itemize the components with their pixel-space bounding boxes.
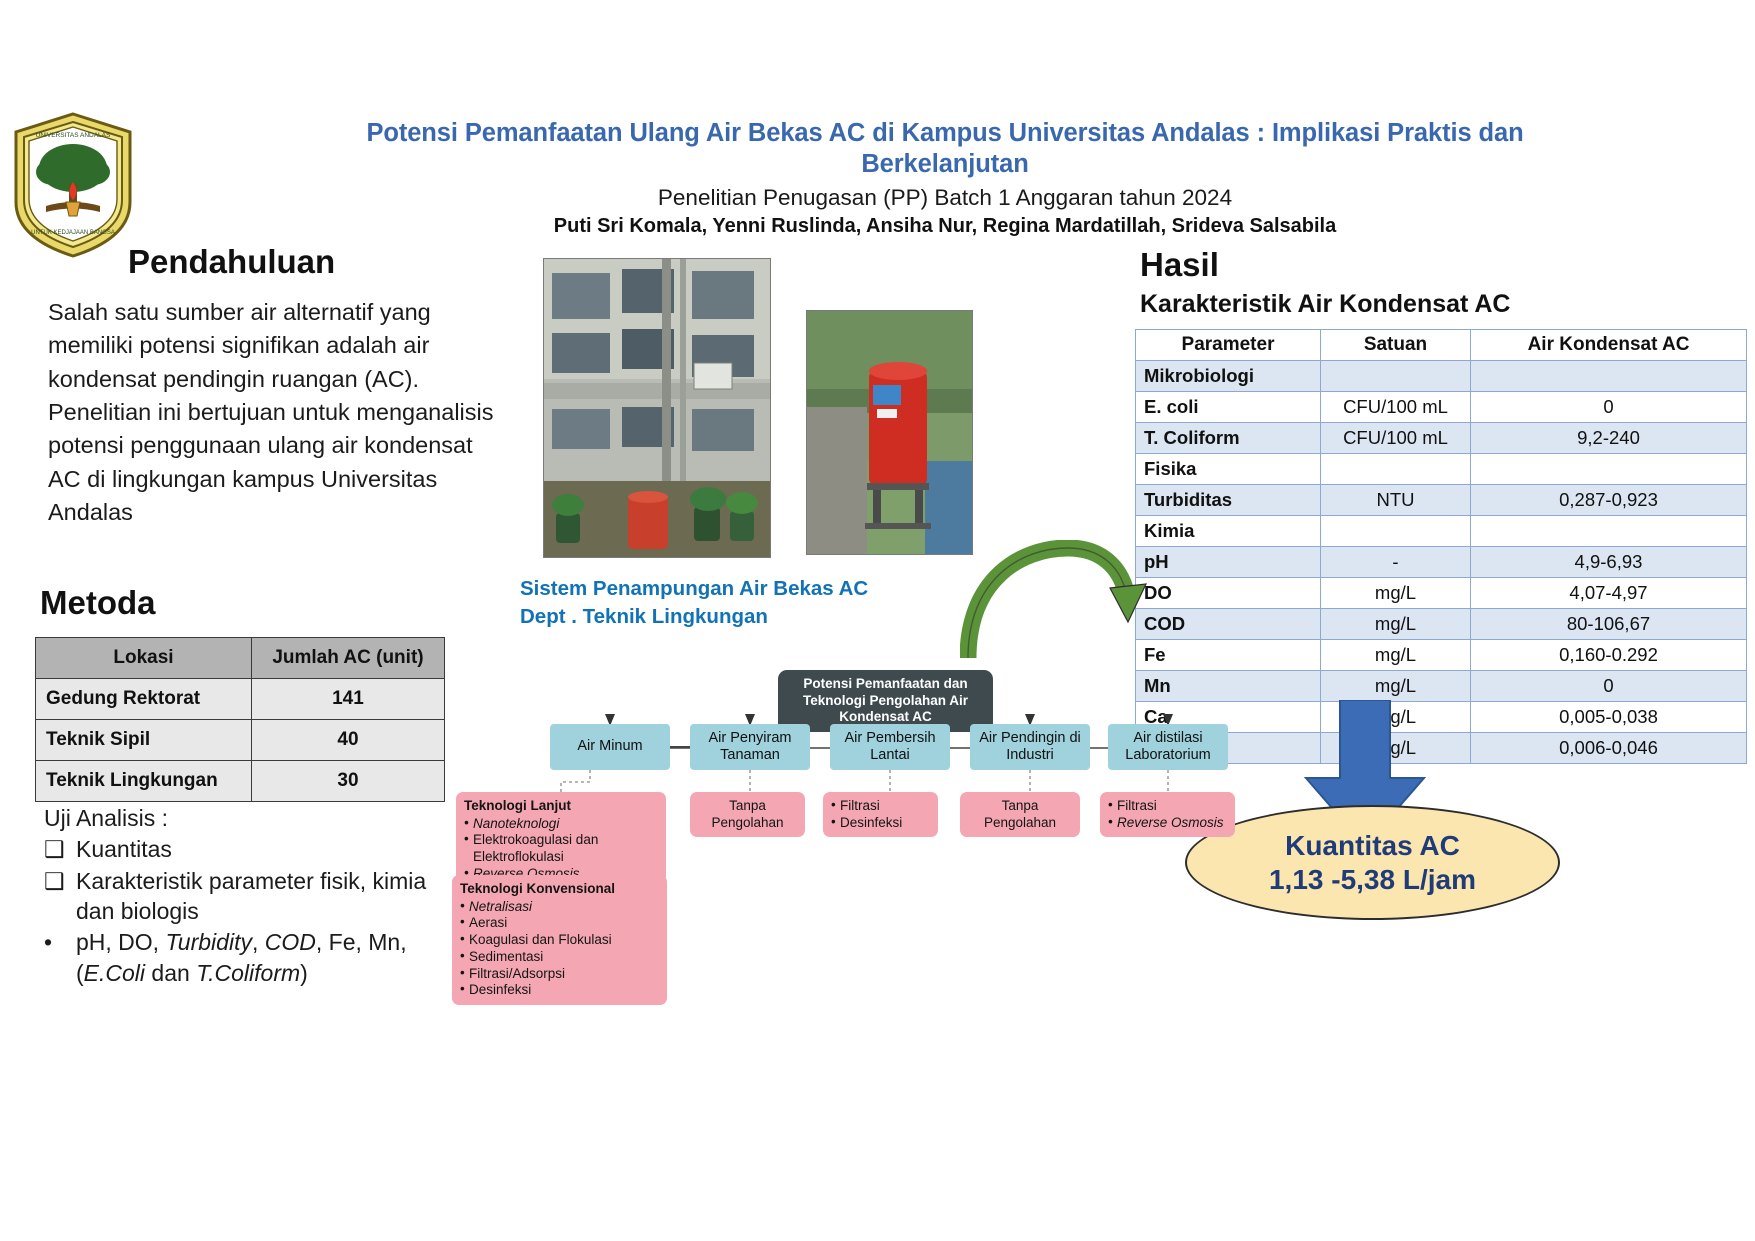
table-row: Mikrobiologi — [1136, 361, 1747, 392]
table-row: DOmg/L4,07-4,97 — [1136, 578, 1747, 609]
uji-parameter-list: pH, DO, Turbidity, COD, Fe, Mn, (E.Coli … — [76, 927, 464, 988]
list-item: Filtrasi — [831, 798, 930, 815]
list-item: Sedimentasi — [460, 949, 659, 966]
cell-satuan: NTU — [1321, 485, 1471, 516]
cell-satuan: mg/L — [1321, 671, 1471, 702]
uji-analisis-block: Uji Analisis : ❑ Kuantitas ❑ Karakterist… — [44, 803, 464, 989]
teknologi-konvensional-title: Teknologi Konvensional — [460, 881, 659, 898]
cell-jumlah: 141 — [251, 679, 444, 720]
col-jumlah-ac: Jumlah AC (unit) — [251, 638, 444, 679]
flow-node-filtrasi-desinfeksi: Filtrasi Desinfeksi — [823, 792, 938, 837]
cell-nilai: 0,006-0,046 — [1471, 733, 1747, 764]
flow-node-air-minum: Air Minum — [550, 724, 670, 770]
col-air-kondensat: Air Kondensat AC — [1471, 330, 1747, 361]
list-item: ❑ Karakteristik parameter fisik, kimia d… — [44, 866, 464, 927]
cell-jumlah: 40 — [251, 720, 444, 761]
flow-node-teknologi-konvensional: Teknologi Konvensional Netralisasi Aeras… — [452, 875, 667, 1005]
cell-parameter: pH — [1136, 547, 1321, 578]
cell-satuan: - — [1321, 547, 1471, 578]
cell-parameter: Turbiditas — [1136, 485, 1321, 516]
list-item: Filtrasi/Adsorpsi — [460, 966, 659, 983]
cell-parameter: Fisika — [1136, 454, 1321, 485]
cell-satuan: mg/L — [1321, 578, 1471, 609]
table-row: Kimia — [1136, 516, 1747, 547]
col-lokasi: Lokasi — [36, 638, 252, 679]
cell-parameter: Fe — [1136, 640, 1321, 671]
cell-nilai: 0,005-0,038 — [1471, 702, 1747, 733]
cell-satuan: mg/L — [1321, 609, 1471, 640]
checkbox-icon: ❑ — [44, 866, 66, 927]
cell-lokasi: Teknik Lingkungan — [36, 761, 252, 802]
poster-authors: Puti Sri Komala, Yenni Ruslinda, Ansiha … — [300, 215, 1590, 238]
table-row: TurbiditasNTU0,287-0,923 — [1136, 485, 1747, 516]
cell-nilai: 0 — [1471, 671, 1747, 702]
cell-nilai: 4,07-4,97 — [1471, 578, 1747, 609]
table-row: T. ColiformCFU/100 mL9,2-240 — [1136, 423, 1747, 454]
heading-metoda: Metoda — [40, 584, 156, 622]
cell-jumlah: 30 — [251, 761, 444, 802]
cell-satuan: CFU/100 mL — [1321, 392, 1471, 423]
cell-nilai: 0 — [1471, 392, 1747, 423]
list-item: • pH, DO, Turbidity, COD, Fe, Mn, (E.Col… — [44, 927, 464, 988]
cell-parameter: DO — [1136, 578, 1321, 609]
flowchart: Potensi Pemanfaatan dan Teknologi Pengol… — [440, 670, 1240, 1130]
cell-satuan — [1321, 361, 1471, 392]
cell-satuan — [1321, 454, 1471, 485]
teknologi-lanjut-title: Teknologi Lanjut — [464, 798, 658, 815]
table-header-row: Lokasi Jumlah AC (unit) — [36, 638, 445, 679]
flowchart-root-node: Potensi Pemanfaatan dan Teknologi Pengol… — [778, 670, 993, 732]
checkbox-icon: ❑ — [44, 834, 66, 864]
cell-lokasi: Teknik Sipil — [36, 720, 252, 761]
cell-nilai — [1471, 516, 1747, 547]
flow-node-air-penyiram-tanaman: Air Penyiram Tanaman — [690, 724, 810, 770]
table-header-row: Parameter Satuan Air Kondensat AC — [1136, 330, 1747, 361]
cell-nilai — [1471, 361, 1747, 392]
cell-parameter: Mikrobiologi — [1136, 361, 1321, 392]
col-satuan: Satuan — [1321, 330, 1471, 361]
flow-node-tanpa-pengolahan-1: Tanpa Pengolahan — [690, 792, 805, 837]
cell-nilai: 9,2-240 — [1471, 423, 1747, 454]
table-row: Fisika — [1136, 454, 1747, 485]
list-item: Elektrokoagulasi dan — [464, 832, 658, 849]
list-item: Netralisasi — [460, 899, 659, 916]
svg-text:UNTUK KEDJAJAAN BANGSA: UNTUK KEDJAJAAN BANGSA — [31, 230, 115, 236]
cell-satuan: mg/L — [1321, 640, 1471, 671]
list-item: ❑ Kuantitas — [44, 834, 464, 864]
kuantitas-ac-callout: Kuantitas AC 1,13 -5,38 L/jam — [1185, 805, 1560, 920]
cell-nilai: 80-106,67 — [1471, 609, 1747, 640]
green-curved-arrow — [960, 540, 1160, 660]
cell-nilai — [1471, 454, 1747, 485]
flow-node-air-distilasi-laboratorium: Air distilasi Laboratorium — [1108, 724, 1228, 770]
table-row: Femg/L0,160-0.292 — [1136, 640, 1747, 671]
table-row: CODmg/L80-106,67 — [1136, 609, 1747, 640]
heading-pendahuluan: Pendahuluan — [128, 243, 335, 281]
pendahuluan-body: Salah satu sumber air alternatif yang me… — [48, 296, 508, 530]
uji-item-label: Kuantitas — [76, 834, 464, 864]
poster-subtitle: Penelitian Penugasan (PP) Batch 1 Anggar… — [300, 185, 1590, 211]
cell-satuan: CFU/100 mL — [1321, 423, 1471, 454]
list-item: Nanoteknologi — [464, 816, 658, 833]
table-row: Teknik Sipil 40 — [36, 720, 445, 761]
cell-nilai: 0,287-0,923 — [1471, 485, 1747, 516]
table-row: pH-4,9-6,93 — [1136, 547, 1747, 578]
list-item: Aerasi — [460, 915, 659, 932]
heading-hasil: Hasil — [1140, 246, 1219, 284]
poster-header: Potensi Pemanfaatan Ulang Air Bekas AC d… — [300, 118, 1590, 238]
list-item: Elektroflokulasi — [464, 849, 658, 866]
photo-caption: Sistem Penampungan Air Bekas AC Dept . T… — [520, 575, 890, 630]
list-item: Desinfeksi — [460, 982, 659, 999]
list-item: Reverse Osmosis — [1108, 815, 1227, 832]
svg-text:UNIVERSITAS ANDALAS: UNIVERSITAS ANDALAS — [36, 132, 111, 139]
list-item: Desinfeksi — [831, 815, 930, 832]
table-row: E. coliCFU/100 mL0 — [1136, 392, 1747, 423]
uji-analisis-title: Uji Analisis : — [44, 803, 464, 833]
flow-node-air-pembersih-lantai: Air Pembersih Lantai — [830, 724, 950, 770]
cell-parameter: T. Coliform — [1136, 423, 1321, 454]
cell-lokasi: Gedung Rektorat — [36, 679, 252, 720]
photo-building-ac-pipes — [543, 258, 771, 558]
universitas-andalas-logo: UNIVERSITAS ANDALAS UNTUK KEDJAJAAN BANG… — [8, 110, 138, 260]
kuantitas-label: Kuantitas AC — [1285, 829, 1460, 862]
table-row: Gedung Rektorat 141 — [36, 679, 445, 720]
flow-node-air-pendingin-industri: Air Pendingin di Industri — [970, 724, 1090, 770]
flow-node-tanpa-pengolahan-2: Tanpa Pengolahan — [960, 792, 1080, 837]
flow-node-filtrasi-reverse-osmosis: Filtrasi Reverse Osmosis — [1100, 792, 1235, 837]
cell-parameter: Kimia — [1136, 516, 1321, 547]
cell-parameter: E. coli — [1136, 392, 1321, 423]
col-parameter: Parameter — [1136, 330, 1321, 361]
heading-karakteristik: Karakteristik Air Kondensat AC — [1140, 290, 1510, 319]
cell-satuan — [1321, 516, 1471, 547]
table-row: Teknik Lingkungan 30 — [36, 761, 445, 802]
list-item: Koagulasi dan Flokulasi — [460, 932, 659, 949]
bullet-icon: • — [44, 927, 66, 988]
uji-item-label: Karakteristik parameter fisik, kimia dan… — [76, 866, 464, 927]
cell-nilai: 4,9-6,93 — [1471, 547, 1747, 578]
kuantitas-value: 1,13 -5,38 L/jam — [1269, 863, 1476, 896]
list-item: Filtrasi — [1108, 798, 1227, 815]
metoda-table: Lokasi Jumlah AC (unit) Gedung Rektorat … — [35, 637, 445, 802]
page-title: Potensi Pemanfaatan Ulang Air Bekas AC d… — [300, 118, 1590, 180]
cell-parameter: COD — [1136, 609, 1321, 640]
photo-red-storage-tank — [806, 310, 973, 555]
cell-nilai: 0,160-0.292 — [1471, 640, 1747, 671]
